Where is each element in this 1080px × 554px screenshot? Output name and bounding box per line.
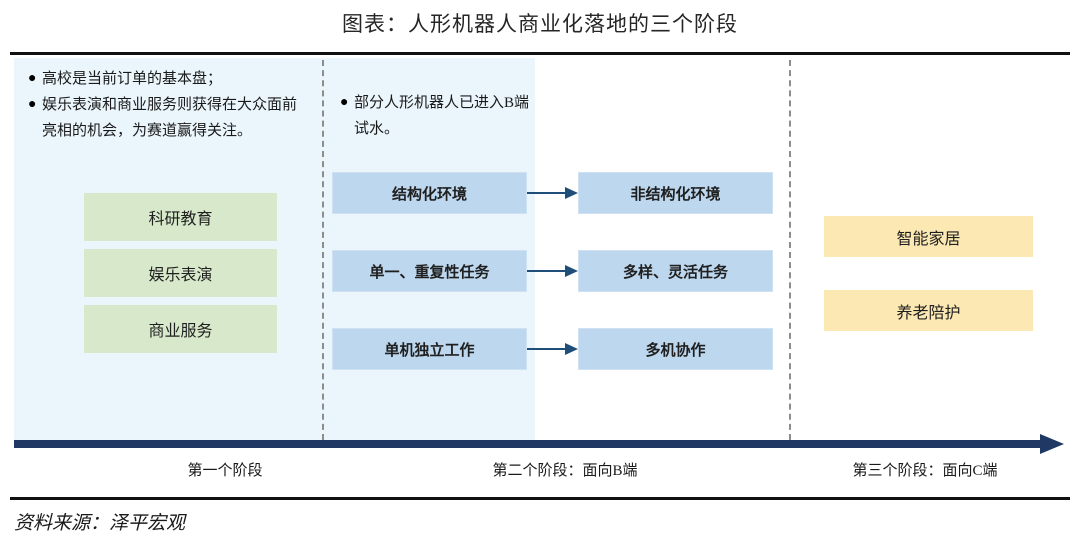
stage3-box-1: 养老陪护: [824, 290, 1033, 331]
stage2-from-box-1: 单一、重复性任务: [332, 250, 527, 292]
stage2-to-box-1: 多样、灵活任务: [578, 250, 773, 292]
timeline-axis: [14, 440, 1044, 448]
stage3-box-0: 智能家居: [824, 216, 1033, 257]
arrow-head: [565, 265, 578, 277]
arrow-line: [527, 348, 567, 350]
list-item: ● 娱乐表演和商业服务则获得在大众面前亮相的机会，为赛道赢得关注。: [28, 92, 308, 144]
list-item: ● 高校是当前订单的基本盘；: [28, 66, 308, 92]
arrow-head: [565, 187, 578, 199]
timeline-arrow-icon: [1040, 434, 1064, 454]
arrow-right-icon: [527, 186, 579, 200]
bottom-rule: [10, 497, 1070, 500]
stage1-box-0: 科研教育: [84, 193, 277, 241]
arrow-head: [565, 343, 578, 355]
stage-divider-2: [789, 60, 791, 440]
bullet-dot-icon: ●: [28, 92, 42, 118]
stage2-bullet-0: 部分人形机器人已进入B端试水。: [354, 90, 530, 142]
source-note: 资料来源：泽平宏观: [14, 508, 185, 535]
arrow-line: [527, 192, 567, 194]
stage1-bullet-0: 高校是当前订单的基本盘；: [42, 66, 308, 92]
bullet-dot-icon: ●: [340, 90, 354, 116]
stage2-to-box-0: 非结构化环境: [578, 172, 773, 214]
arrow-right-icon: [527, 342, 579, 356]
top-rule: [10, 52, 1070, 55]
stage2-from-box-2: 单机独立工作: [332, 328, 527, 370]
page-title: 图表：人形机器人商业化落地的三个阶段: [0, 8, 1080, 38]
stage2-from-box-0: 结构化环境: [332, 172, 527, 214]
stage-label-1: 第一个阶段: [110, 459, 340, 480]
stage1-box-2: 商业服务: [84, 305, 277, 353]
stage1-bullet-list: ● 高校是当前订单的基本盘； ● 娱乐表演和商业服务则获得在大众面前亮相的机会，…: [28, 66, 308, 144]
stage2-bullet-list: ● 部分人形机器人已进入B端试水。: [340, 90, 530, 142]
stage1-bullet-1: 娱乐表演和商业服务则获得在大众面前亮相的机会，为赛道赢得关注。: [42, 92, 308, 144]
stage-label-3: 第三个阶段：面向C端: [760, 459, 1080, 480]
bullet-dot-icon: ●: [28, 66, 42, 92]
stage1-box-1: 娱乐表演: [84, 249, 277, 297]
chart-figure: 图表：人形机器人商业化落地的三个阶段 ● 高校是当前订单的基本盘； ● 娱乐表演…: [0, 0, 1080, 554]
stage-divider-1: [322, 60, 324, 440]
arrow-right-icon: [527, 264, 579, 278]
stage2-to-box-2: 多机协作: [578, 328, 773, 370]
stage-label-2: 第二个阶段：面向B端: [400, 459, 730, 480]
arrow-line: [527, 270, 567, 272]
list-item: ● 部分人形机器人已进入B端试水。: [340, 90, 530, 142]
